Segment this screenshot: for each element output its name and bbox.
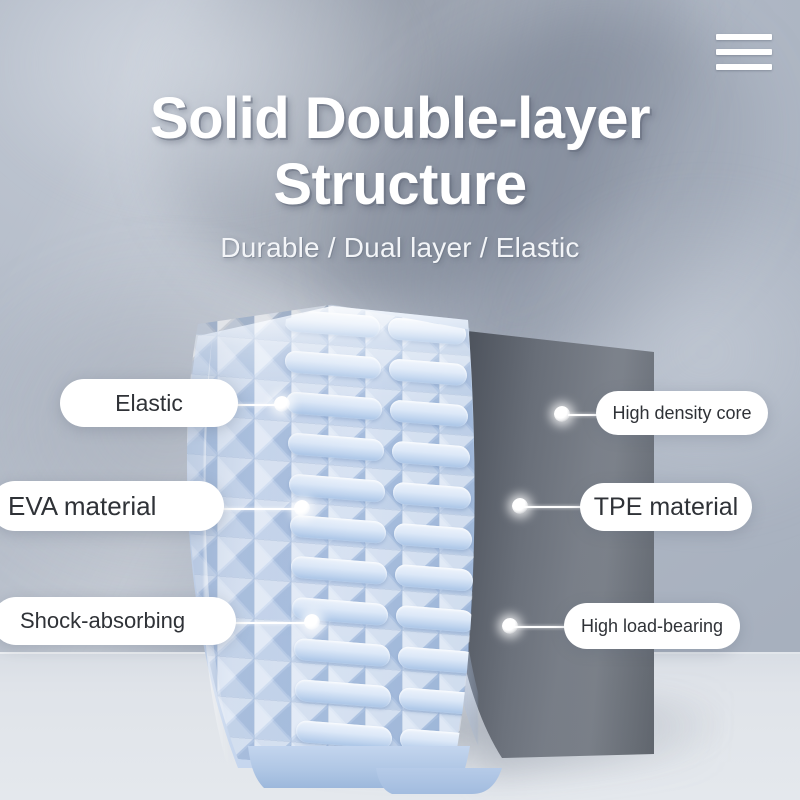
callout-high-density-core[interactable]: High density core	[596, 391, 768, 435]
hotspot-dot-high-density-core[interactable]	[554, 406, 570, 422]
callout-elastic[interactable]: Elastic	[60, 379, 238, 427]
eva-foam-layer	[180, 306, 520, 768]
hamburger-menu-icon[interactable]	[716, 30, 772, 74]
promo-banner: Solid Double-layer Structure Durable / D…	[0, 0, 800, 800]
menu-bar-middle	[716, 49, 772, 55]
callout-elastic-label: Elastic	[115, 390, 183, 417]
hotspot-dot-eva-material[interactable]	[294, 500, 310, 516]
callout-high-load-bearing[interactable]: High load-bearing	[564, 603, 740, 649]
foam-base-feet	[376, 768, 506, 794]
callout-eva-material[interactable]: EVA material	[0, 481, 224, 531]
hotspot-dot-tpe-material[interactable]	[512, 498, 528, 514]
hotspot-dot-shock-absorbing[interactable]	[304, 614, 320, 630]
menu-bar-bottom	[716, 64, 772, 70]
menu-bar-top	[716, 34, 772, 40]
hotspot-dot-elastic[interactable]	[274, 396, 290, 412]
callout-high-load-bearing-label: High load-bearing	[581, 616, 723, 637]
background-glow-top-left	[0, 0, 440, 224]
hotspot-dot-high-load-bearing[interactable]	[502, 618, 518, 634]
callout-shock-absorbing[interactable]: Shock-absorbing	[0, 597, 236, 645]
callout-tpe-material-label: TPE material	[594, 493, 738, 522]
callout-shock-absorbing-label: Shock-absorbing	[20, 608, 185, 634]
callout-eva-material-label: EVA material	[8, 491, 156, 522]
callout-tpe-material[interactable]: TPE material	[580, 483, 752, 531]
foam-top-highlight	[180, 306, 520, 768]
callout-high-density-core-label: High density core	[612, 403, 751, 424]
product-image	[150, 288, 620, 768]
